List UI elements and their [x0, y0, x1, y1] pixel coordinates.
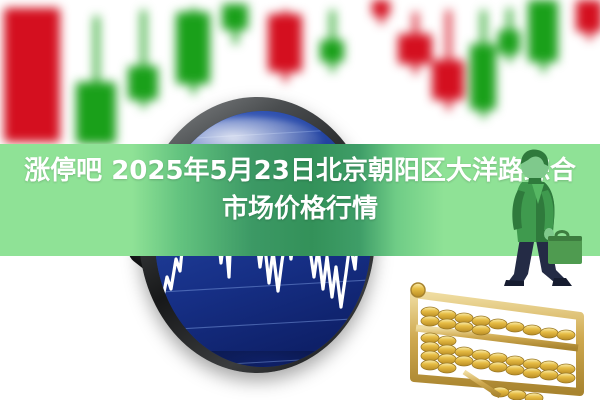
candle-body — [432, 60, 464, 100]
candle-body — [372, 0, 390, 16]
candle-body — [268, 14, 302, 72]
promo-banner-image: 熊市 — [0, 0, 600, 400]
abacus-illustration — [404, 272, 600, 400]
candle-body — [576, 0, 600, 32]
candle-body — [76, 82, 116, 144]
lens-inner-shadow — [165, 351, 371, 367]
candle-body — [222, 4, 248, 30]
candle-body — [398, 34, 432, 64]
candle-body — [320, 40, 344, 62]
businessman-illustration — [492, 142, 588, 290]
candle-body — [498, 30, 520, 54]
candle-body — [4, 8, 60, 142]
candle-body — [528, 0, 558, 62]
candle-body — [470, 44, 496, 110]
candle-body — [176, 12, 210, 84]
